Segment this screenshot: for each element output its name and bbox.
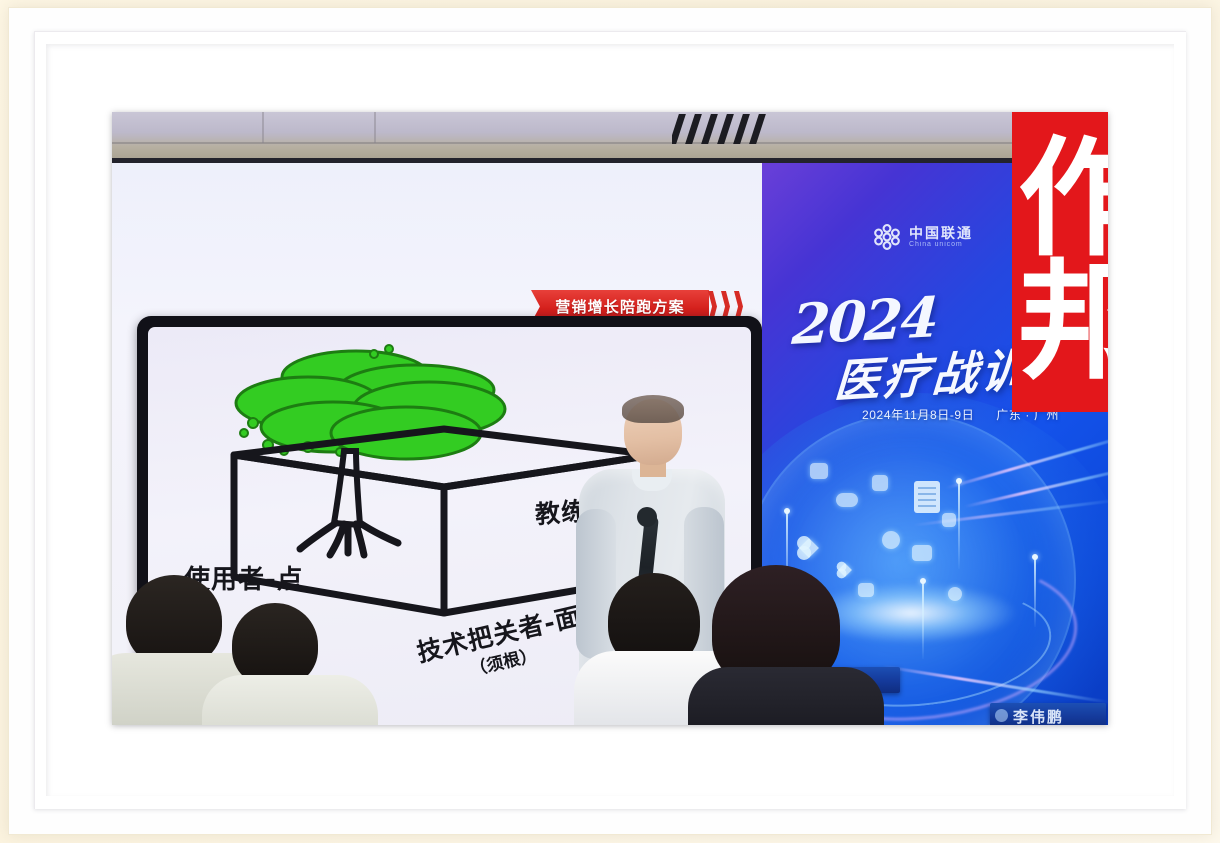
app-icon <box>942 513 956 527</box>
ceiling-joint <box>262 112 264 143</box>
ceiling-vent-icon <box>672 114 778 144</box>
photo-frame-outer: 营销增长陪跑方案 四 生 <box>0 0 1220 843</box>
document-icon <box>914 481 940 513</box>
plate-emblem-icon <box>995 709 1008 722</box>
audience-member <box>216 585 356 725</box>
ceiling <box>112 112 1108 160</box>
watermark-text-row-1: 作者 <box>1018 139 1108 262</box>
audience-shirt <box>202 675 378 725</box>
microphone-capsule <box>637 507 657 527</box>
audience-jacket <box>688 667 884 725</box>
app-icon <box>872 475 888 491</box>
app-icon <box>882 531 900 549</box>
ceiling-joint <box>374 112 376 143</box>
unicom-flower-icon <box>872 222 902 252</box>
slide-ribbon-label: 营销增长陪跑方案 <box>555 296 685 317</box>
event-date: 2024年11月8日-9日 <box>862 406 974 423</box>
speaker-hair <box>622 395 684 423</box>
conference-photograph: 营销增长陪跑方案 四 生 <box>112 112 1108 725</box>
app-icon <box>948 587 962 601</box>
unicom-brand-en: China unicom <box>909 241 973 248</box>
app-icon <box>836 493 858 507</box>
name-plate: 李伟鹏 <box>990 703 1106 725</box>
app-icon <box>810 463 828 479</box>
watermark-text-row-2: 邦网 <box>1018 262 1108 385</box>
watermark-overlay: 作者 邦网 <box>1012 112 1108 412</box>
backdrop-light-pole <box>1034 557 1036 627</box>
name-plate-label: 李伟鹏 <box>1013 706 1064 725</box>
app-icon <box>912 545 932 561</box>
unicom-brand-cn: 中国联通 <box>909 226 973 241</box>
watermark-row-1: 作者 <box>1012 139 1108 262</box>
audience-member <box>692 563 872 725</box>
watermark-row-2: 邦网 <box>1012 262 1108 385</box>
event-year: 2024 <box>791 289 939 352</box>
backdrop-light-pole <box>958 481 960 569</box>
china-unicom-logo: 中国联通 China unicom <box>872 220 1002 254</box>
backdrop-light-pole <box>922 581 924 659</box>
